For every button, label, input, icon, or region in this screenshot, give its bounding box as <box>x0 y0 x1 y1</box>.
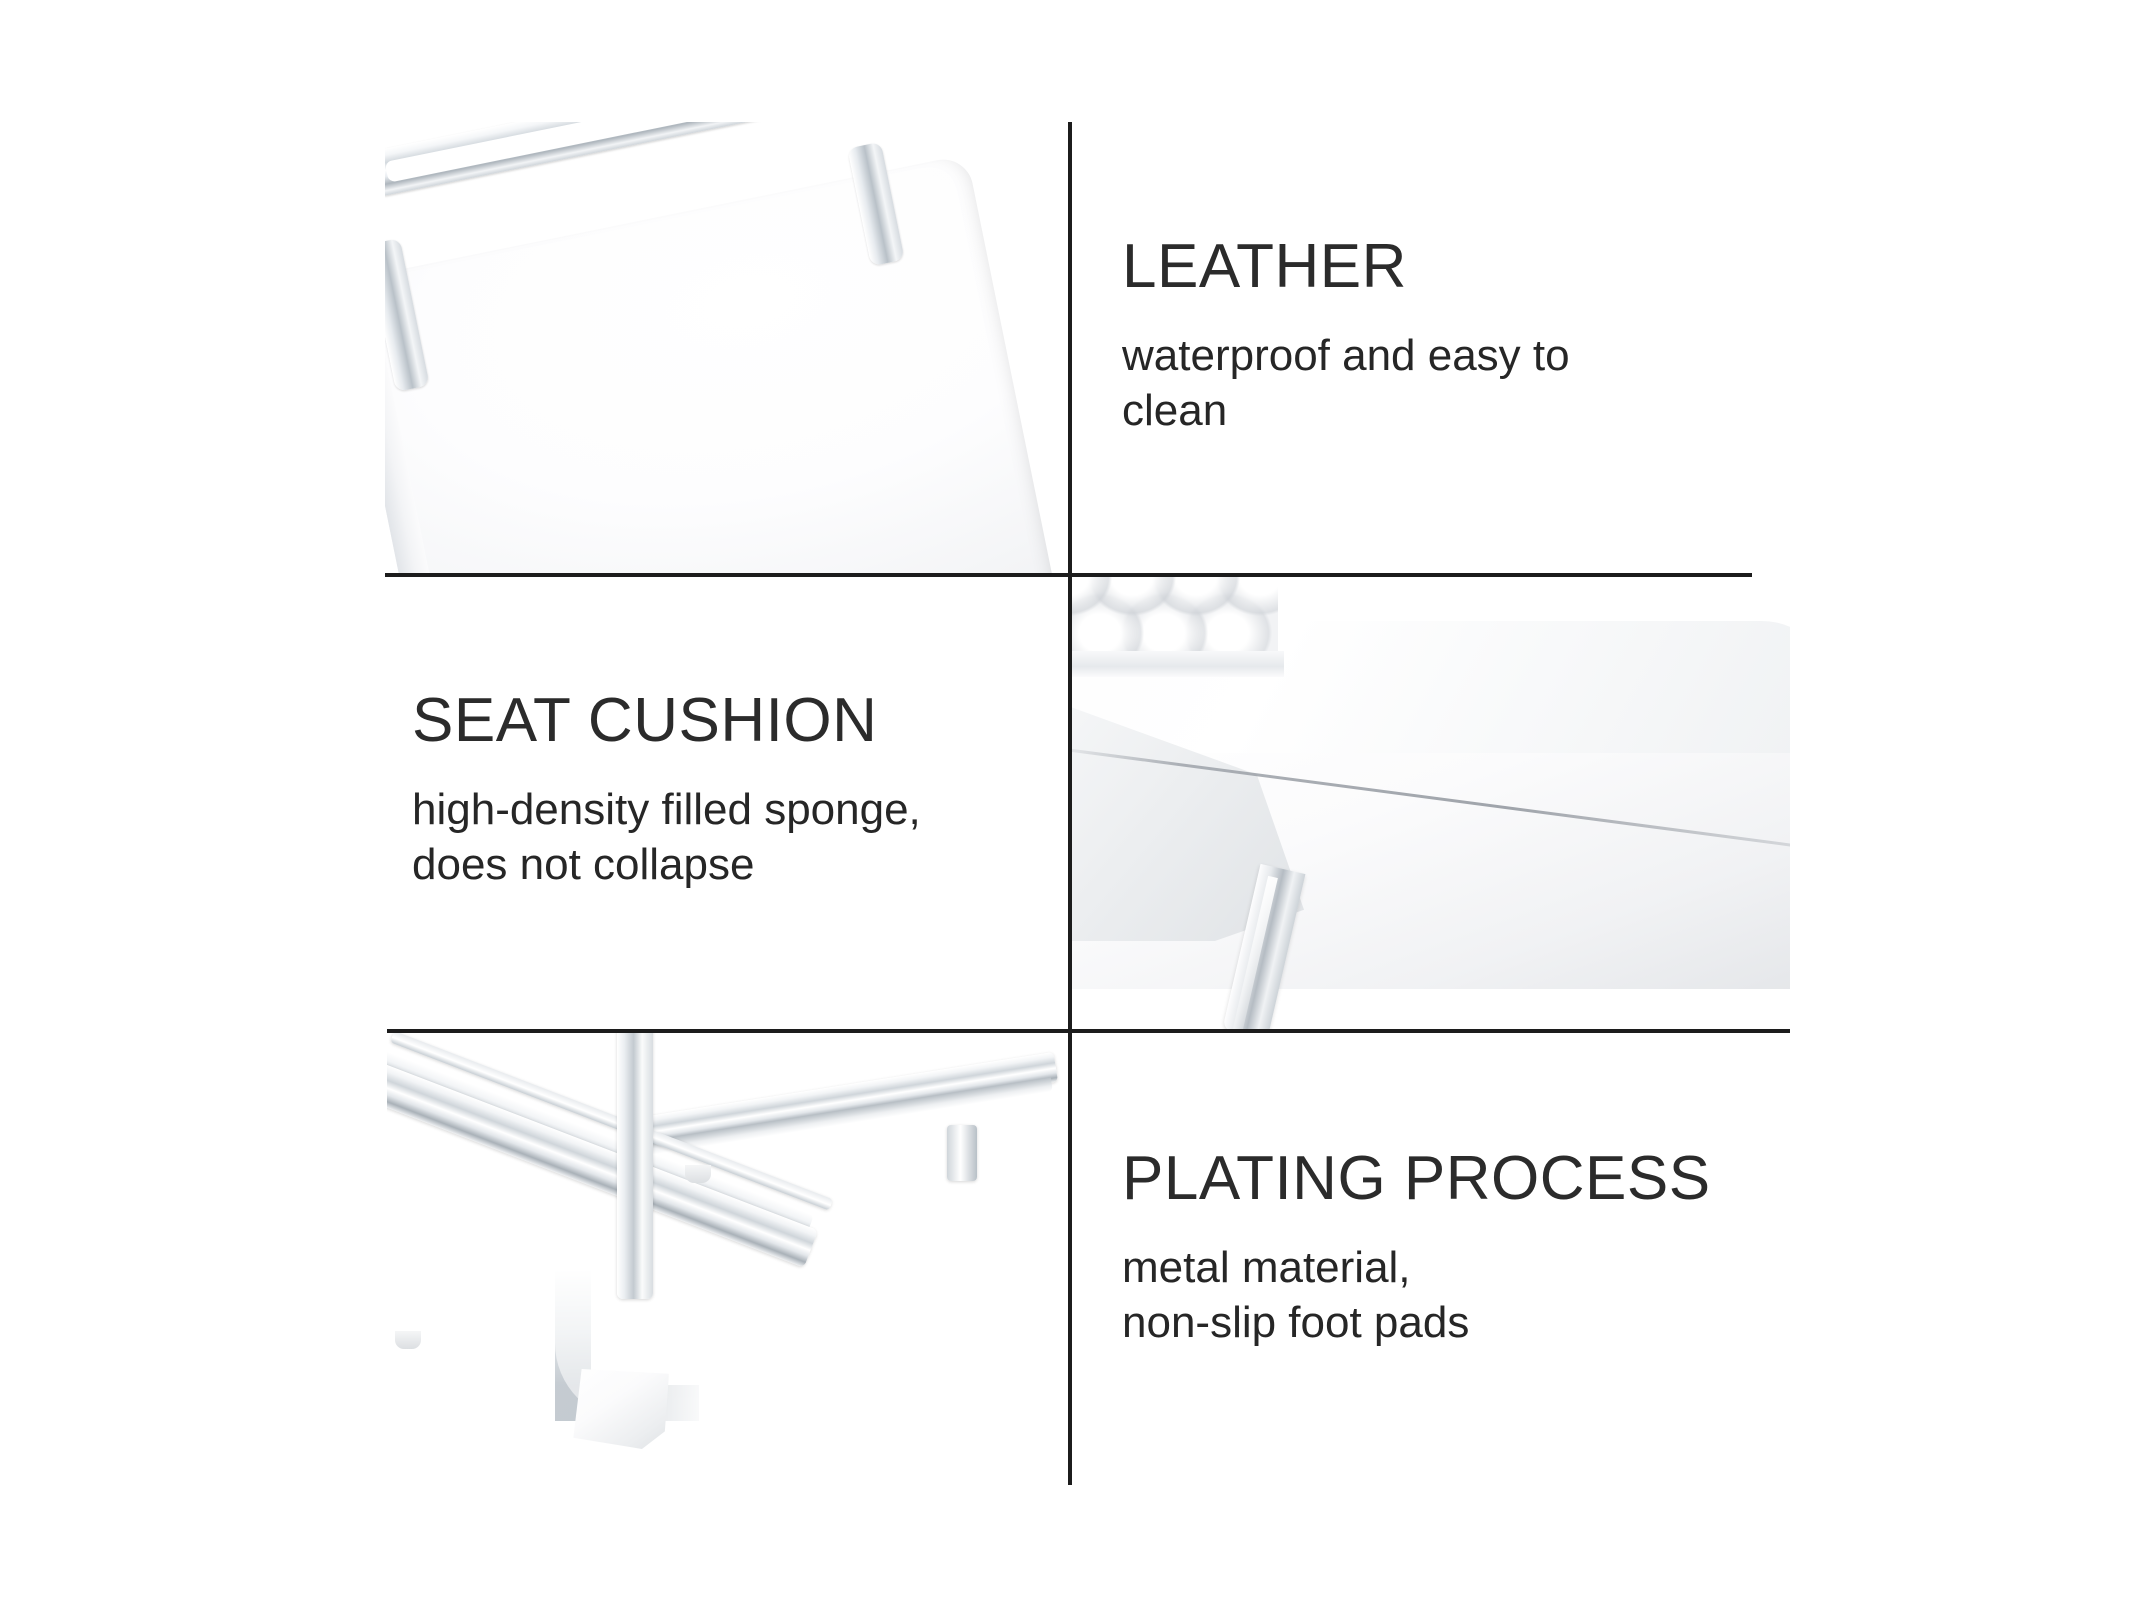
chair-back-cushion-shape <box>385 154 1068 573</box>
chrome-rail-front <box>387 1062 818 1268</box>
infographic-canvas: LEATHER waterproof and easy to clean SEA… <box>0 0 2145 1608</box>
feature-body-line: waterproof and easy to <box>1122 328 1722 383</box>
feature-body-seat-cushion: high-density filled sponge, does not col… <box>412 782 1072 892</box>
chrome-rail-corner-right <box>947 1125 977 1181</box>
tufted-backrest-detail <box>1072 577 1278 657</box>
feature-heading-leather: LEATHER <box>1122 236 1722 298</box>
seat-cushion-photo <box>1072 577 1790 1029</box>
feature-body-line: high-density filled sponge, <box>412 782 1072 837</box>
feature-body-line: does not collapse <box>412 837 1072 892</box>
feature-heading-plating-process: PLATING PROCESS <box>1122 1148 1802 1210</box>
chrome-seat-post <box>617 1033 653 1299</box>
backrest-base-strip <box>1072 651 1284 677</box>
feature-heading-seat-cushion: SEAT CUSHION <box>412 690 1072 752</box>
chrome-base-photo <box>387 1033 1068 1485</box>
feature-body-line: clean <box>1122 383 1722 438</box>
non-slip-foot-pad <box>565 1369 669 1449</box>
feature-body-plating-process: metal material, non-slip foot pads <box>1122 1240 1802 1350</box>
feature-body-line: non-slip foot pads <box>1122 1295 1802 1350</box>
feature-body-line: metal material, <box>1122 1240 1802 1295</box>
glide-nub-back <box>685 1165 711 1183</box>
feature-text-leather: LEATHER waterproof and easy to clean <box>1122 236 1722 438</box>
feature-text-plating-process: PLATING PROCESS metal material, non-slip… <box>1122 1148 1802 1350</box>
chrome-top-frame-opening <box>385 122 867 183</box>
chair-back-leather-photo <box>385 122 1068 573</box>
glide-nub-front <box>395 1331 421 1349</box>
feature-text-seat-cushion: SEAT CUSHION high-density filled sponge,… <box>412 690 1072 892</box>
feature-body-leather: waterproof and easy to clean <box>1122 328 1722 438</box>
